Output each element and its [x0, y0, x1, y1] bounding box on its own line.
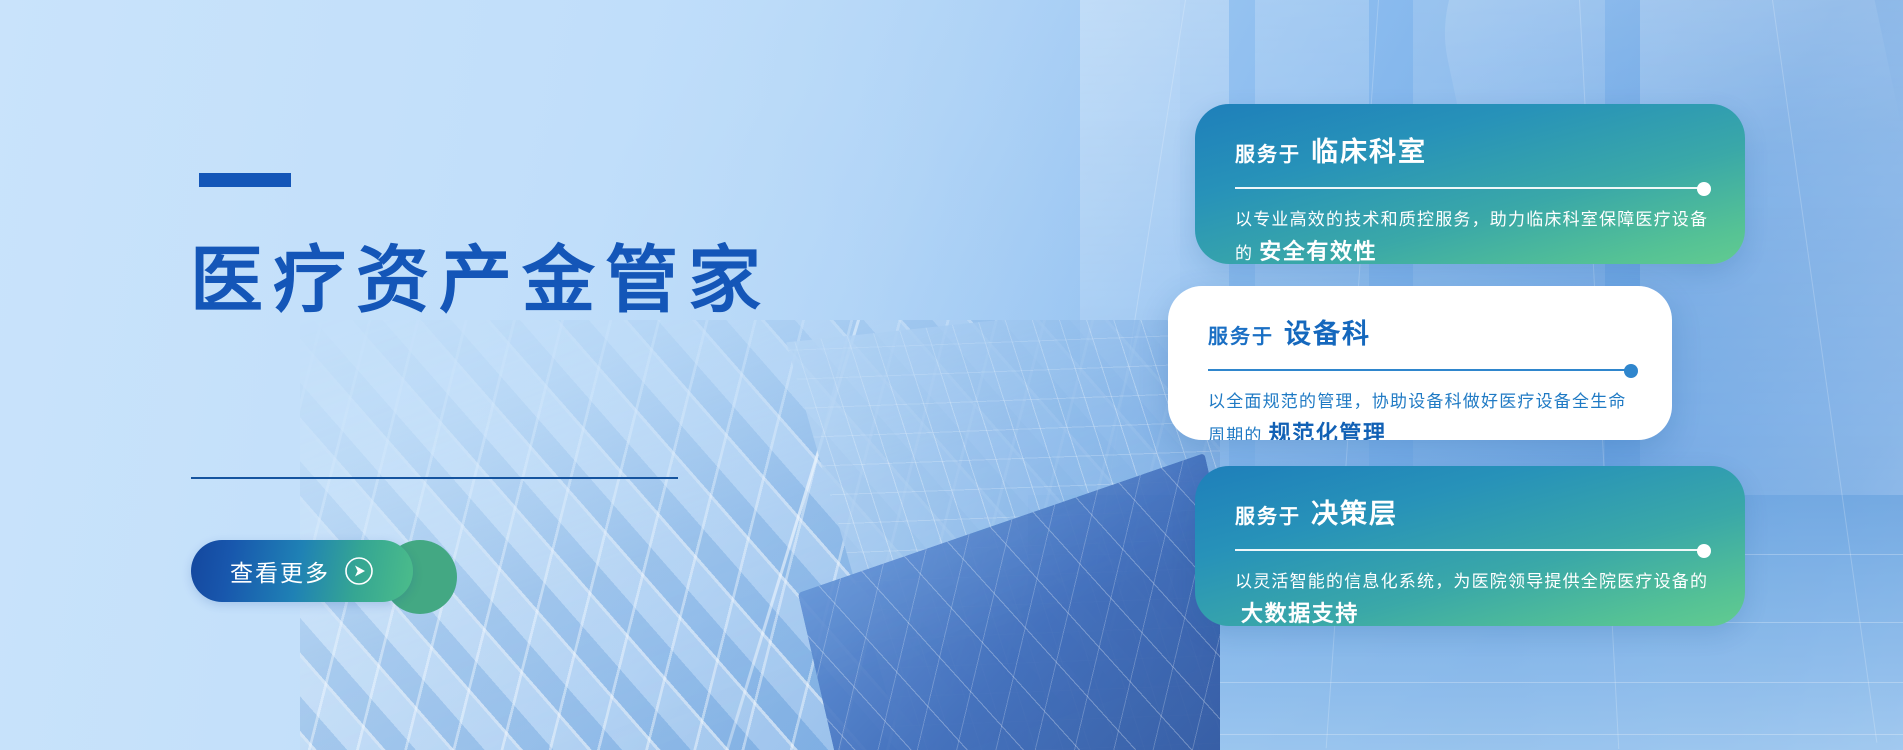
- card-body-emphasis: 安全有效性: [1259, 239, 1377, 264]
- card-head-keyword: 决策层: [1311, 492, 1398, 531]
- card-rule: [1235, 183, 1711, 193]
- endpoint-dot-icon: [1624, 364, 1638, 378]
- service-card-decision[interactable]: 服务于 决策层 以灵活智能的信息化系统，为医院领导提供全院医疗设备的大数据支持: [1195, 466, 1745, 626]
- card-head-keyword: 临床科室: [1311, 130, 1427, 169]
- endpoint-dot-icon: [1697, 544, 1711, 558]
- card-head-keyword: 设备科: [1284, 312, 1371, 351]
- card-rule: [1235, 545, 1711, 555]
- service-card-list: 服务于 临床科室 以专业高效的技术和质控服务，助力临床科室保障医疗设备的安全有效…: [0, 0, 1903, 750]
- card-heading: 服务于 设备科: [1208, 312, 1638, 351]
- service-card-clinical[interactable]: 服务于 临床科室 以专业高效的技术和质控服务，助力临床科室保障医疗设备的安全有效…: [1195, 104, 1745, 264]
- card-body: 以灵活智能的信息化系统，为医院领导提供全院医疗设备的大数据支持: [1235, 568, 1711, 626]
- card-rule: [1208, 365, 1638, 375]
- card-body: 以专业高效的技术和质控服务，助力临床科室保障医疗设备的安全有效性: [1235, 206, 1711, 264]
- card-rule-line: [1208, 369, 1628, 371]
- card-body: 以全面规范的管理，协助设备科做好医疗设备全生命周期的规范化管理: [1208, 388, 1638, 440]
- card-head-prefix: 服务于: [1235, 138, 1301, 167]
- service-card-equipment[interactable]: 服务于 设备科 以全面规范的管理，协助设备科做好医疗设备全生命周期的规范化管理: [1168, 286, 1672, 440]
- card-heading: 服务于 决策层: [1235, 492, 1711, 531]
- card-heading: 服务于 临床科室: [1235, 130, 1711, 169]
- endpoint-dot-icon: [1697, 182, 1711, 196]
- card-head-prefix: 服务于: [1235, 500, 1301, 529]
- card-body-emphasis: 大数据支持: [1241, 601, 1359, 626]
- hero-banner: 医疗资产金管家 查看更多 服务于 临床科室 以专: [0, 0, 1903, 750]
- card-rule-line: [1235, 187, 1701, 189]
- card-head-prefix: 服务于: [1208, 320, 1274, 349]
- card-body-emphasis: 规范化管理: [1269, 421, 1387, 440]
- card-rule-line: [1235, 549, 1701, 551]
- card-body-text: 以灵活智能的信息化系统，为医院领导提供全院医疗设备的: [1235, 572, 1708, 591]
